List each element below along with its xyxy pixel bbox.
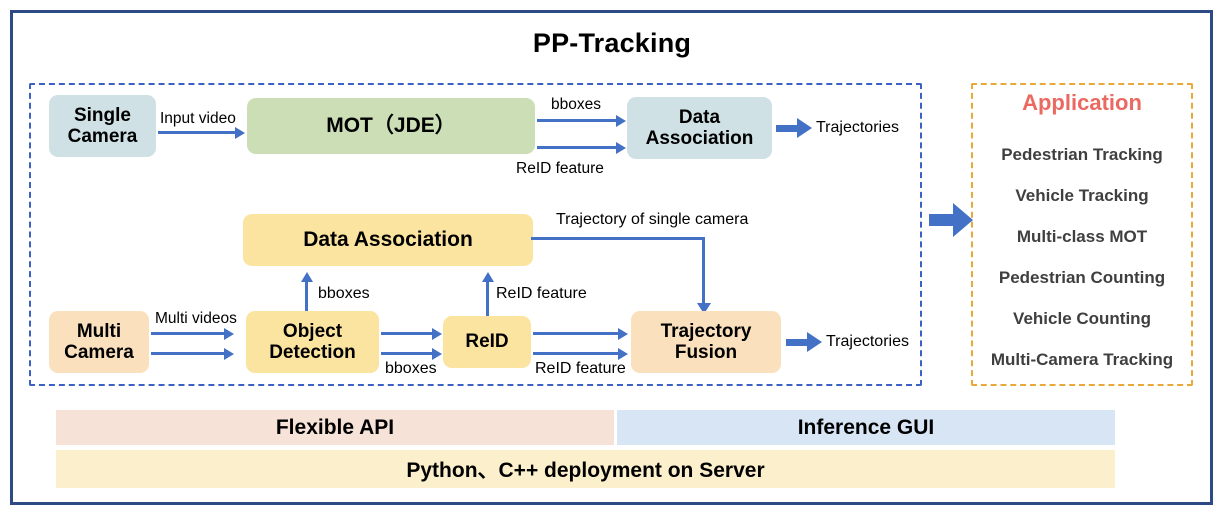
- arrow-trajectories-top-line: [776, 125, 798, 132]
- node-multi-camera-line1: Multi: [64, 321, 134, 342]
- arrow-objdet-to-reid-line2: [381, 352, 433, 355]
- edge-label-bboxes-mid: bboxes: [385, 360, 437, 378]
- arrow-reid-feature-up-line: [486, 281, 489, 316]
- arrow-multi-to-objdet-line2: [151, 352, 225, 355]
- edge-label-trajectory-of-single-camera: Trajectory of single camera: [556, 211, 748, 229]
- bar-deployment[interactable]: Python、C++ deployment on Server: [56, 450, 1115, 488]
- arrow-multi-to-objdet-head2: [224, 348, 234, 360]
- node-mot-jde[interactable]: MOT（JDE）: [247, 98, 535, 154]
- application-item-multi-class-mot[interactable]: Multi-class MOT: [971, 227, 1193, 247]
- node-data-association-single[interactable]: Data Association: [627, 97, 772, 159]
- arrow-trajectories-bottom-line: [786, 339, 808, 346]
- edge-label-bboxes-up: bboxes: [318, 285, 370, 303]
- arrow-mot-bboxes-head: [616, 115, 626, 127]
- arrow-multi-to-objdet-line1: [151, 332, 225, 335]
- application-item-vehicle-tracking[interactable]: Vehicle Tracking: [971, 186, 1193, 206]
- arrow-mot-reid-head: [616, 142, 626, 154]
- arrow-objdet-bboxes-up-line: [305, 281, 308, 311]
- application-item-pedestrian-tracking[interactable]: Pedestrian Tracking: [971, 145, 1193, 165]
- node-reid[interactable]: ReID: [443, 316, 531, 368]
- edge-label-reid-feature-mid: ReID feature: [535, 360, 626, 378]
- arrow-da2-to-fusion-h: [531, 237, 705, 240]
- arrow-single-to-mot-line: [158, 131, 236, 134]
- arrow-trajectories-bottom-head: [807, 332, 822, 352]
- arrow-trajectories-top-head: [797, 118, 812, 138]
- node-single-camera-line2: Camera: [68, 126, 138, 147]
- node-trajectory-fusion[interactable]: Trajectory Fusion: [631, 311, 781, 373]
- node-trajectory-fusion-line2: Fusion: [661, 342, 752, 363]
- page-title: PP-Tracking: [0, 28, 1224, 59]
- node-trajectory-fusion-line1: Trajectory: [661, 321, 752, 342]
- bar-flexible-api[interactable]: Flexible API: [56, 410, 614, 445]
- bar-inference-gui[interactable]: Inference GUI: [617, 410, 1115, 445]
- arrow-objdet-to-reid-head1: [432, 328, 442, 340]
- arrow-objdet-to-reid-head2: [432, 348, 442, 360]
- arrow-objdet-bboxes-up-head: [301, 272, 313, 282]
- node-data-association-single-line2: Association: [646, 128, 754, 149]
- arrow-reid-to-fusion-head1: [618, 328, 628, 340]
- diagram-canvas: PP-Tracking Single Camera Input video MO…: [0, 0, 1224, 514]
- node-data-association-multi[interactable]: Data Association: [243, 214, 533, 266]
- edge-label-reid-feature-top: ReID feature: [516, 160, 604, 178]
- arrow-reid-feature-up-head: [482, 272, 494, 282]
- edge-label-reid-feature-up: ReID feature: [496, 285, 587, 303]
- application-item-vehicle-counting[interactable]: Vehicle Counting: [971, 309, 1193, 329]
- node-object-detection-line1: Object: [269, 321, 356, 342]
- application-title: Application: [971, 90, 1193, 116]
- application-item-pedestrian-counting[interactable]: Pedestrian Counting: [971, 268, 1193, 288]
- node-multi-camera[interactable]: Multi Camera: [49, 311, 149, 373]
- node-data-association-single-line1: Data: [646, 107, 754, 128]
- edge-label-bboxes-top: bboxes: [551, 96, 601, 114]
- node-single-camera[interactable]: Single Camera: [49, 95, 156, 157]
- arrow-to-application: [929, 203, 973, 237]
- arrow-reid-to-fusion-line2: [533, 352, 619, 355]
- node-multi-camera-line2: Camera: [64, 342, 134, 363]
- arrow-multi-to-objdet-head1: [224, 328, 234, 340]
- application-item-multi-camera-tracking[interactable]: Multi-Camera Tracking: [971, 350, 1193, 370]
- arrow-reid-to-fusion-head2: [618, 348, 628, 360]
- arrow-single-to-mot-head: [235, 127, 245, 139]
- arrow-da2-to-fusion-v: [702, 237, 705, 305]
- edge-label-trajectories-bottom: Trajectories: [826, 333, 909, 351]
- arrow-objdet-to-reid-line1: [381, 332, 433, 335]
- arrow-mot-bboxes-line: [537, 119, 617, 122]
- arrow-mot-reid-line: [537, 146, 617, 149]
- arrow-reid-to-fusion-line1: [533, 332, 619, 335]
- edge-label-multi-videos: Multi videos: [155, 310, 237, 328]
- edge-label-trajectories-top: Trajectories: [816, 119, 899, 137]
- node-single-camera-line1: Single: [68, 105, 138, 126]
- node-object-detection[interactable]: Object Detection: [246, 311, 379, 373]
- node-object-detection-line2: Detection: [269, 342, 356, 363]
- edge-label-input-video: Input video: [160, 110, 236, 128]
